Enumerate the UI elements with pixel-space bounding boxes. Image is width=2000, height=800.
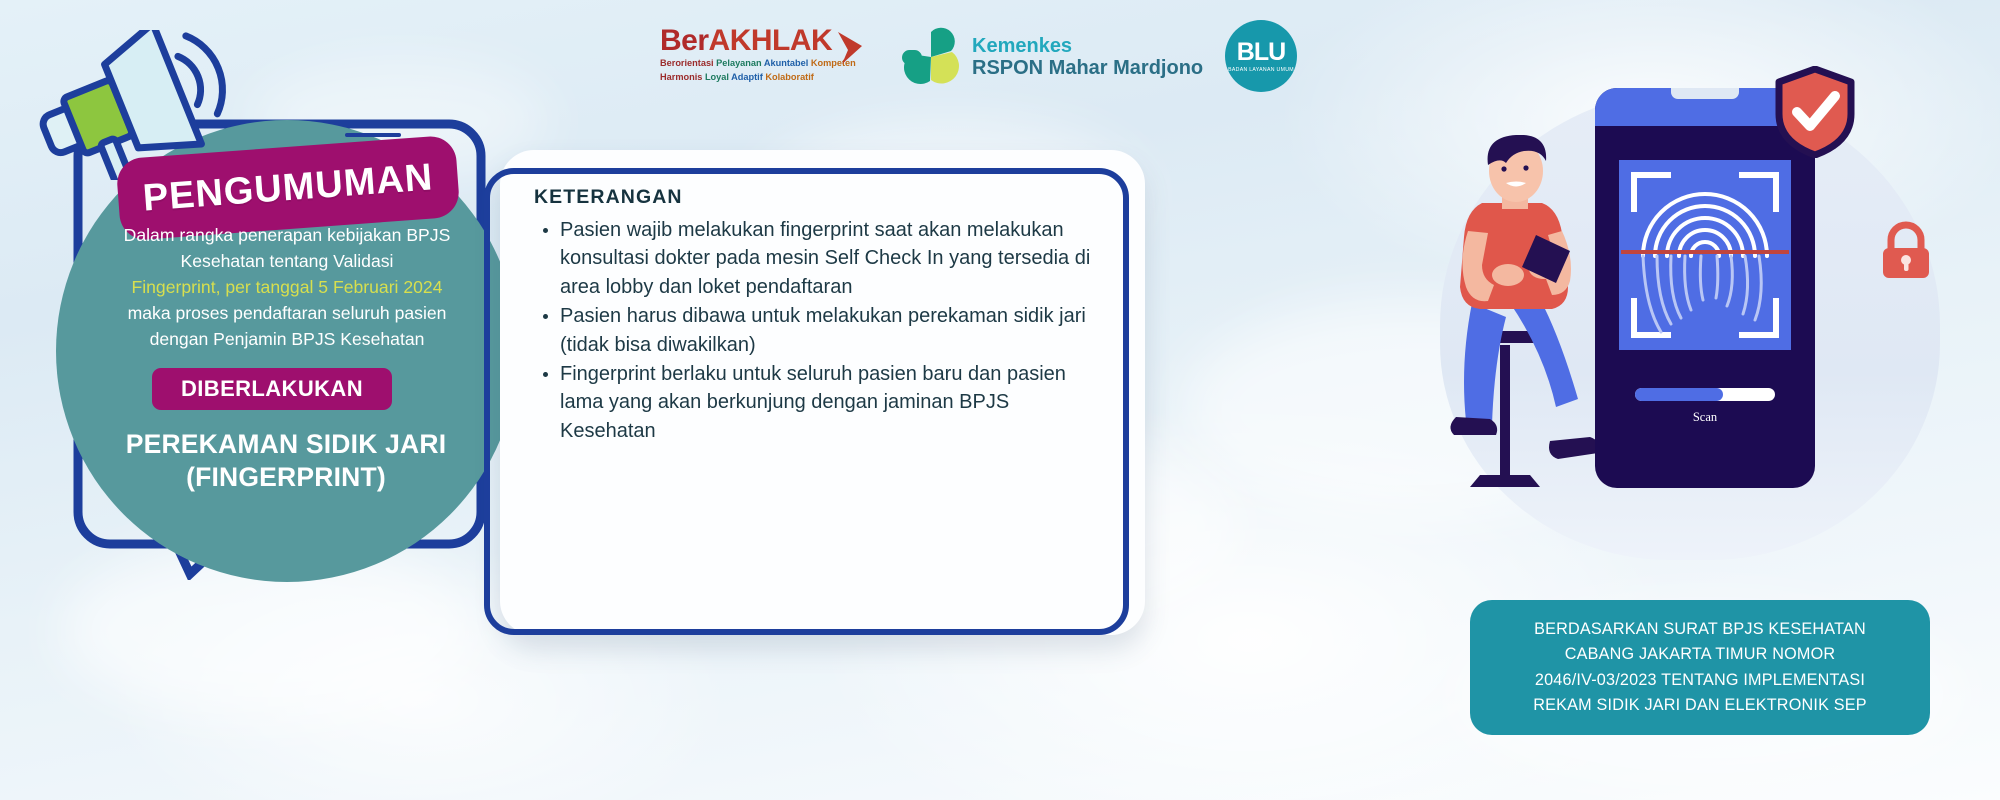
legal-line: BERDASARKAN SURAT BPJS KESEHATAN [1533,617,1867,642]
diberlakukan-label: DIBERLAKUKAN [181,376,363,402]
berakhlak-swoosh-icon [832,30,872,70]
legal-reference-text: BERDASARKAN SURAT BPJS KESEHATAN CABANG … [1533,617,1867,717]
announcement-body-line-1: Dalam rangka penerapan kebijakan BPJS [88,222,486,248]
announcement-body: Dalam rangka penerapan kebijakan BPJS Ke… [88,222,486,352]
diberlakukan-badge: DIBERLAKUKAN [152,368,392,410]
poster-canvas: BerAKHLAK Berorientasi Pelayanan Akuntab… [0,0,2000,800]
announcement-body-line-4: dengan Penjamin BPJS Kesehatan [88,326,486,352]
kemenkes-text: Kemenkes RSPON Mahar Mardjono [972,35,1203,80]
legal-line: CABANG JAKARTA TIMUR NOMOR [1533,642,1867,667]
keterangan-list-item: Fingerprint berlaku untuk seluruh pasien… [560,360,1104,445]
announcement-headline: PEREKAMAN SIDIK JARI (FINGERPRINT) [70,428,502,495]
padlock-icon [1875,220,1937,282]
scan-line [1621,250,1789,254]
kemenkes-line1: Kemenkes [972,35,1203,57]
kemenkes-logo: Kemenkes RSPON Mahar Mardjono [900,26,1203,88]
berakhlak-prefix: Ber [660,24,709,57]
keterangan-list-item: Pasien harus dibawa untuk melakukan pere… [560,302,1104,359]
announcement-headline-line1: PEREKAMAN SIDIK JARI [70,428,502,461]
shield-check-icon [1775,66,1855,158]
legal-reference-box: BERDASARKAN SURAT BPJS KESEHATAN CABANG … [1470,600,1930,735]
pengumuman-label: PENGUMUMAN [141,156,434,220]
keterangan-list: Pasien wajib melakukan fingerprint saat … [534,216,1104,445]
keterangan-list-item: Pasien wajib melakukan fingerprint saat … [560,216,1104,301]
blu-logo: BLU BADAN LAYANAN UMUM [1225,20,1297,92]
logo-row: BerAKHLAK Berorientasi Pelayanan Akuntab… [660,12,1340,102]
keterangan-card: KETERANGAN Pasien wajib melakukan finger… [534,186,1104,446]
legal-line: 2046/IV-03/2023 TENTANG IMPLEMENTASI [1533,668,1867,693]
kemenkes-mark-icon [900,26,962,88]
berakhlak-tagline-line2: Harmonis Loyal Adaptif Kolaboratif [660,72,870,84]
announcement-highlight-line: Fingerprint, per tanggal 5 Februari 2024 [88,274,486,300]
blu-subtitle: BADAN LAYANAN UMUM [1228,67,1294,73]
scan-label: Scan [1595,410,1815,425]
berakhlak-suffix: AKHLAK [709,24,833,57]
blu-abbr: BLU [1237,40,1285,65]
kemenkes-line2: RSPON Mahar Mardjono [972,57,1203,79]
fingerprint-scan-area [1619,160,1791,350]
scan-progress-bar [1635,388,1775,401]
fingerprint-icon [1619,160,1791,350]
scan-progress-fill [1635,388,1723,401]
keterangan-title: KETERANGAN [534,186,1104,209]
frame-connector-dash [345,133,401,137]
berakhlak-logo: BerAKHLAK Berorientasi Pelayanan Akuntab… [660,26,870,84]
announcement-headline-line2: (FINGERPRINT) [70,461,502,494]
legal-line: REKAM SIDIK JARI DAN ELEKTRONIK SEP [1533,693,1867,718]
phone-notch [1671,88,1739,99]
fingerprint-illustration: Scan [1420,60,2000,580]
announcement-body-line-2: Kesehatan tentang Validasi [88,248,486,274]
announcement-body-line-3: maka proses pendaftaran seluruh pasien [88,300,486,326]
